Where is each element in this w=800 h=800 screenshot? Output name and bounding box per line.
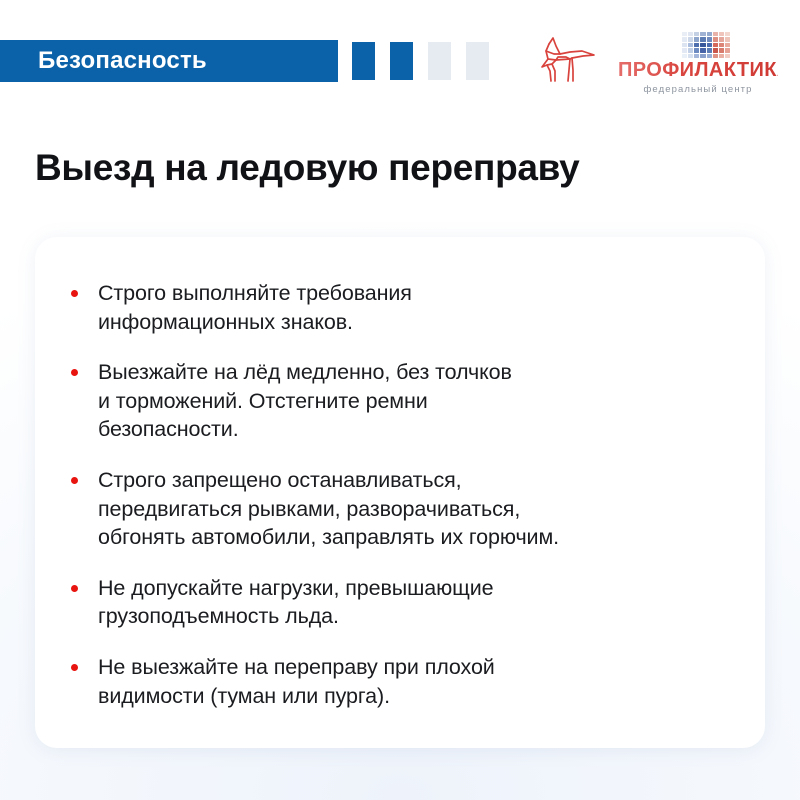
list-item: Строго запрещено останавливаться, передв… (68, 466, 741, 552)
deco-bar-blue-2 (390, 42, 413, 80)
list-item: Выезжайте на лёд медленно, без толчков и… (68, 358, 741, 444)
deco-bar-grey-1 (428, 42, 451, 80)
list-item-text: Выезжайте на лёд медленно, без толчков и… (98, 358, 741, 444)
list-item-text: Не допускайте нагрузки, превышающие груз… (98, 574, 741, 631)
brand-logo: ПРОФИЛАКТИКА федеральный центр (536, 30, 776, 92)
category-label: Безопасность (38, 49, 207, 73)
bullet-dot-icon (71, 290, 78, 297)
red-line-art-horse-icon (536, 34, 598, 88)
list-item: Не выезжайте на переправу при плохой вид… (68, 653, 741, 710)
list-item-text: Строго выполняйте требования информацион… (98, 279, 741, 336)
pixel-grid-icon (682, 32, 730, 58)
category-banner: Безопасность (0, 40, 338, 82)
list-item-text: Не выезжайте на переправу при плохой вид… (98, 653, 741, 710)
list-item: Строго выполняйте требования информацион… (68, 279, 741, 336)
page-title: Выезд на ледовую переправу (35, 147, 755, 190)
bullet-dot-icon (71, 369, 78, 376)
logo-tagline: федеральный центр (618, 84, 778, 95)
content-card: Строго выполняйте требования информацион… (35, 237, 765, 748)
list-item-text: Строго запрещено останавливаться, передв… (98, 466, 741, 552)
bullet-dot-icon (71, 664, 78, 671)
bullet-dot-icon (71, 585, 78, 592)
deco-bar-grey-2 (466, 42, 489, 80)
list-item: Не допускайте нагрузки, превышающие груз… (68, 574, 741, 631)
infographic-page: Безопасность (0, 0, 800, 800)
safety-rules-list: Строго выполняйте требования информацион… (68, 279, 741, 710)
logo-text-block: ПРОФИЛАКТИКА федеральный центр (618, 32, 778, 95)
logo-wordmark: ПРОФИЛАКТИКА (618, 60, 778, 80)
bullet-dot-icon (71, 477, 78, 484)
deco-bar-blue-1 (352, 42, 375, 80)
